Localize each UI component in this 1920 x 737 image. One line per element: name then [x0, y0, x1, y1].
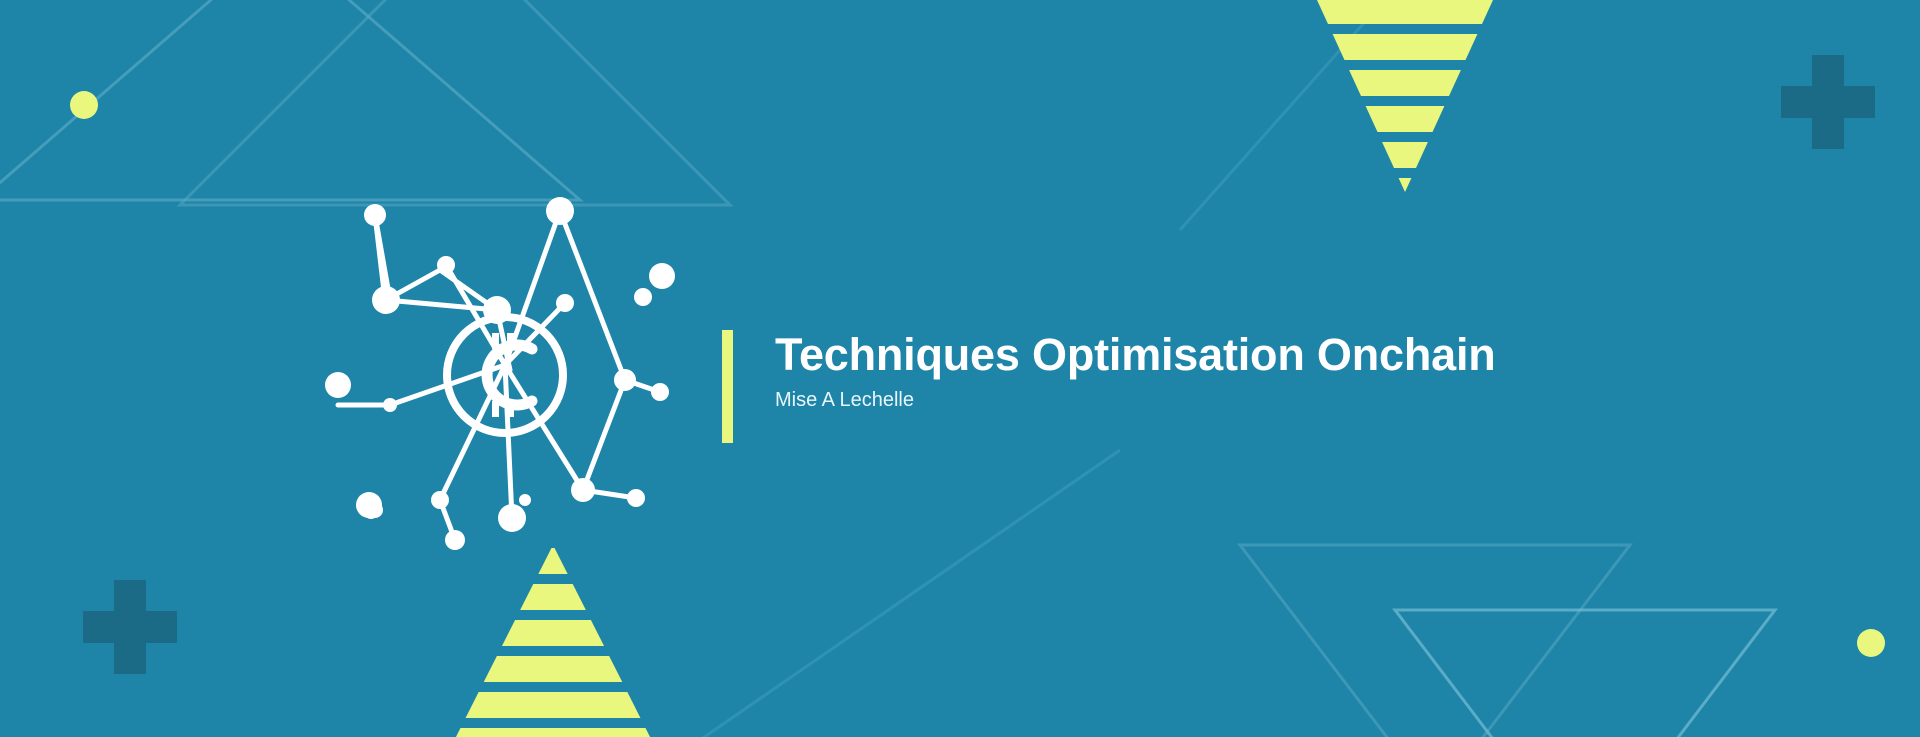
banner-subtitle: Mise A Lechelle [775, 388, 1496, 412]
banner-text-block: Techniques Optimisation Onchain Mise A L… [722, 330, 1822, 455]
text-column: Techniques Optimisation Onchain Mise A L… [775, 330, 1496, 455]
banner-title: Techniques Optimisation Onchain [775, 331, 1496, 378]
network-links [338, 211, 660, 540]
accent-bar [722, 330, 733, 443]
banner-canvas: Techniques Optimisation Onchain Mise A L… [0, 0, 1920, 737]
